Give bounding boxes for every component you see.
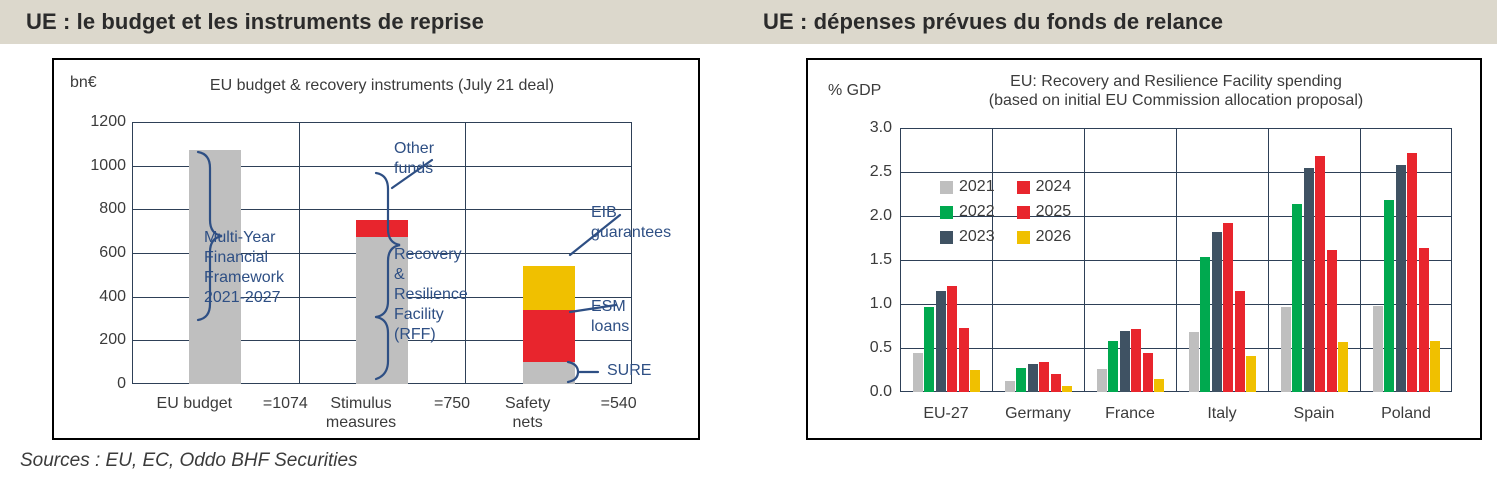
legend-item-2026[interactable]: 2026 <box>1017 228 1072 246</box>
bar-2023 <box>1304 168 1314 392</box>
y-tick-label: 2.5 <box>870 163 892 181</box>
bar-2021 <box>1005 381 1015 392</box>
category-divider <box>1176 128 1177 392</box>
legend-item-2022[interactable]: 2022 <box>940 203 995 221</box>
bar-2024 <box>1315 156 1325 392</box>
category-divider <box>1084 128 1085 392</box>
banner-left: UE : le budget et les instruments de rep… <box>0 0 749 44</box>
y-tick-label: 0.0 <box>870 383 892 401</box>
y-tick-label: 2.0 <box>870 207 892 225</box>
chart-panel-eu-budget: bn€ EU budget & recovery instruments (Ju… <box>52 58 700 440</box>
legend-item-2021[interactable]: 2021 <box>940 178 995 196</box>
bar-2023 <box>1028 364 1038 392</box>
legend-label: 2022 <box>959 203 995 221</box>
y-tick-label: 3.0 <box>870 119 892 137</box>
bar-2025 <box>1051 374 1061 392</box>
bar-2024 <box>1039 362 1049 392</box>
legend-item-2025[interactable]: 2025 <box>1017 203 1072 221</box>
y-tick-label: 1.5 <box>870 251 892 269</box>
legend-item-2024[interactable]: 2024 <box>1017 178 1072 196</box>
bar-2025 <box>959 328 969 392</box>
legend-label: 2021 <box>959 178 995 196</box>
right-plot-area <box>900 128 1452 392</box>
bar-2022 <box>1384 200 1394 392</box>
bar-2021 <box>1097 369 1107 392</box>
bar-2022 <box>1108 341 1118 392</box>
slide-canvas: UE : le budget et les instruments de rep… <box>0 0 1497 484</box>
right-chart-title: EU: Recovery and Resilience Facility spe… <box>888 72 1464 110</box>
legend-label: 2024 <box>1036 178 1072 196</box>
bar-2025 <box>1143 353 1153 392</box>
bar-2023 <box>1120 331 1130 392</box>
bar-2023 <box>1396 165 1406 392</box>
bar-2021 <box>1373 306 1383 392</box>
legend-label: 2023 <box>959 228 995 246</box>
category-divider <box>1268 128 1269 392</box>
category-divider <box>1360 128 1361 392</box>
left-annotation-overlay <box>54 60 702 442</box>
right-y-axis: 0.00.51.01.52.02.53.0 <box>830 128 892 392</box>
right-chart-title-line2: (based on initial EU Commission allocati… <box>888 91 1464 110</box>
right-chart-title-line1: EU: Recovery and Resilience Facility spe… <box>888 72 1464 91</box>
bar-2026 <box>1154 379 1164 392</box>
category-label: Poland <box>1346 404 1466 423</box>
y-tick-label: 0.5 <box>870 339 892 357</box>
banner-left-title: UE : le budget et les instruments de rep… <box>0 9 484 35</box>
bar-2021 <box>1189 332 1199 392</box>
y-tick-label: 1.0 <box>870 295 892 313</box>
banner-right: UE : dépenses prévues du fonds de relanc… <box>749 0 1497 44</box>
bar-2023 <box>1212 232 1222 392</box>
legend-swatch-icon <box>940 181 953 194</box>
bar-2022 <box>1016 368 1026 392</box>
bar-2024 <box>1131 329 1141 392</box>
bar-2024 <box>1407 153 1417 392</box>
bar-2025 <box>1235 291 1245 392</box>
legend-swatch-icon <box>1017 231 1030 244</box>
category-divider <box>992 128 993 392</box>
legend-label: 2026 <box>1036 228 1072 246</box>
legend-item-2023[interactable]: 2023 <box>940 228 995 246</box>
right-axis-unit: % GDP <box>828 82 881 100</box>
legend-swatch-icon <box>940 206 953 219</box>
bar-2025 <box>1419 248 1429 392</box>
bar-2026 <box>1062 386 1072 392</box>
bar-2026 <box>1338 342 1348 392</box>
sources-note: Sources : EU, EC, Oddo BHF Securities <box>20 450 358 472</box>
bar-2024 <box>947 286 957 392</box>
bar-2026 <box>1430 341 1440 392</box>
chart-legend: 202120242022202520232026 <box>940 178 1071 246</box>
bar-2023 <box>936 291 946 392</box>
bar-2024 <box>1223 223 1233 392</box>
legend-swatch-icon <box>940 231 953 244</box>
bar-2022 <box>1200 257 1210 392</box>
bar-2021 <box>1281 307 1291 392</box>
legend-swatch-icon <box>1017 206 1030 219</box>
legend-swatch-icon <box>1017 181 1030 194</box>
bar-2026 <box>1246 356 1256 392</box>
chart-panel-rrf: % GDP EU: Recovery and Resilience Facili… <box>806 58 1482 440</box>
bar-2021 <box>913 353 923 392</box>
bar-2025 <box>1327 250 1337 392</box>
banner-right-title: UE : dépenses prévues du fonds de relanc… <box>749 9 1223 35</box>
bar-2026 <box>970 370 980 392</box>
legend-label: 2025 <box>1036 203 1072 221</box>
bar-2022 <box>1292 204 1302 392</box>
bar-2022 <box>924 307 934 392</box>
